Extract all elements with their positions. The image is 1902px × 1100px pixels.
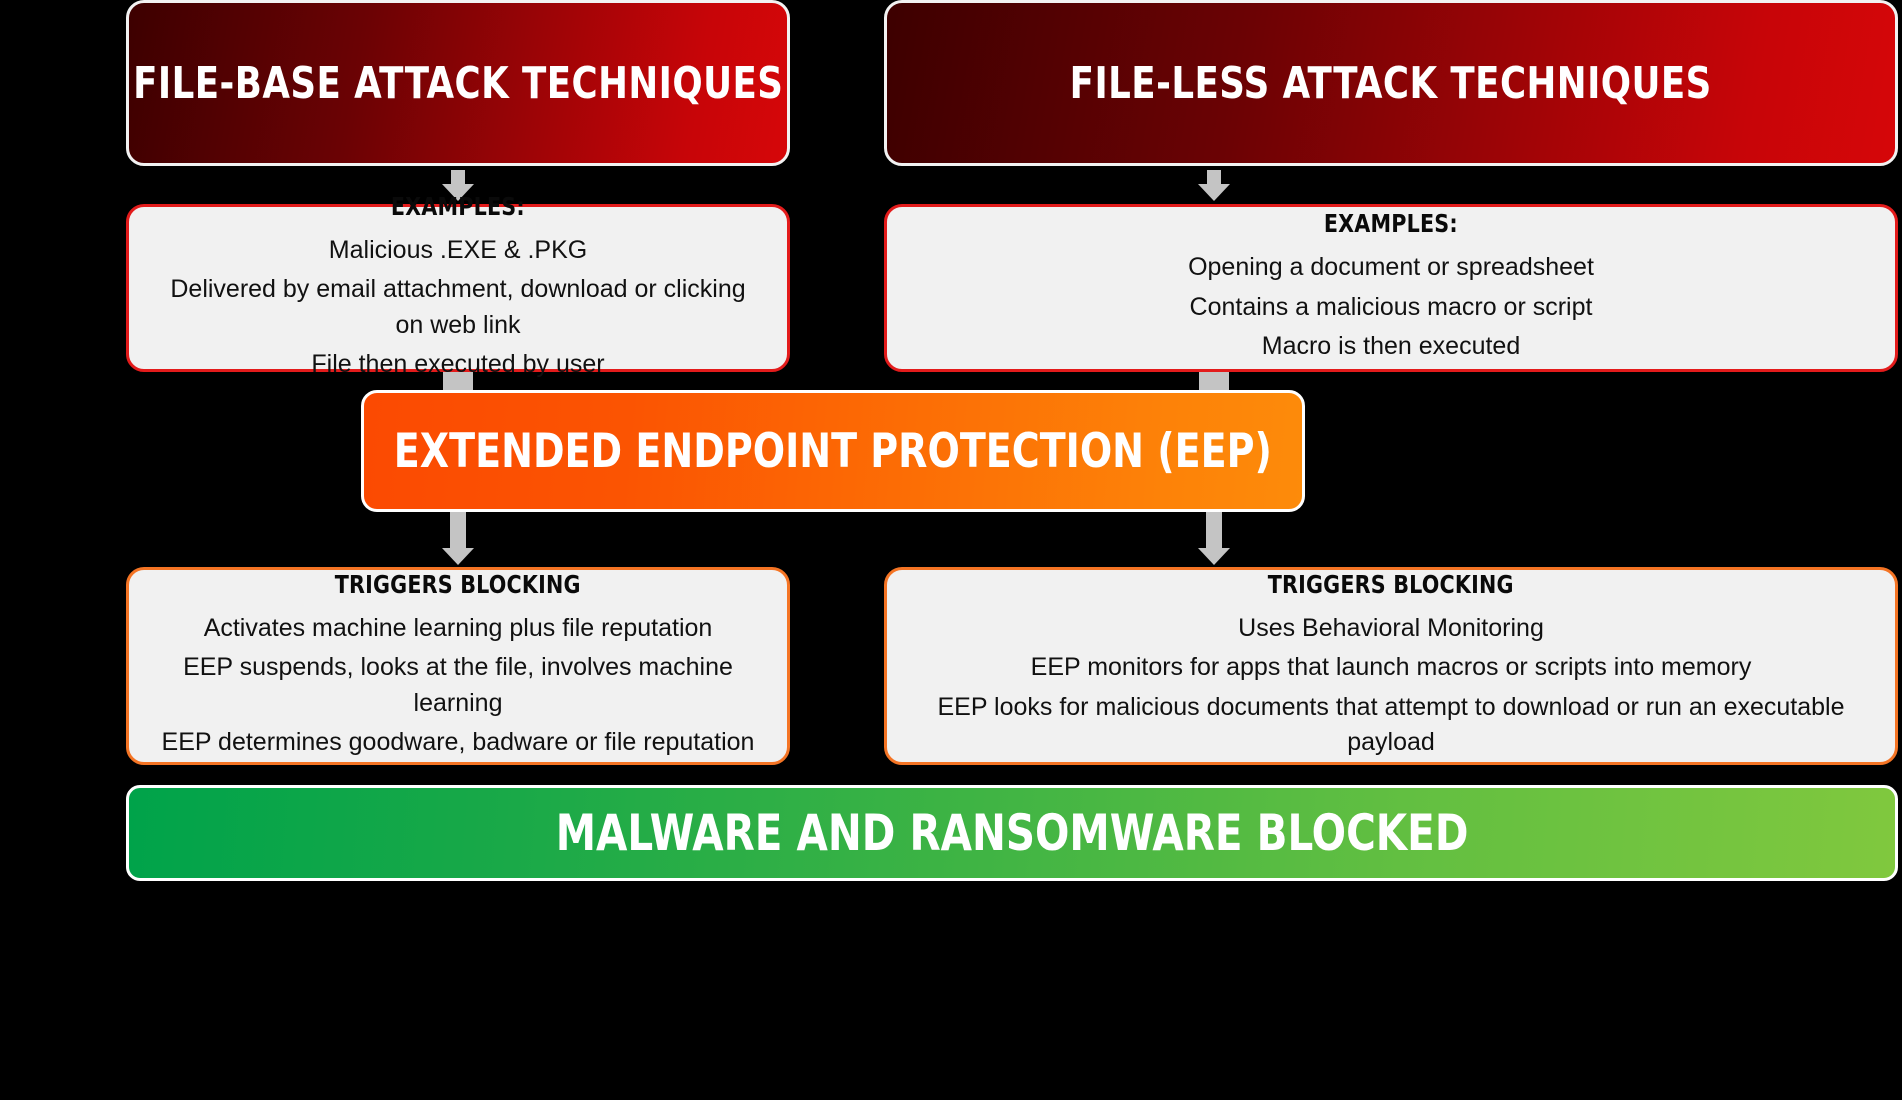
examples-right-line-1: Opening a document or spreadsheet: [1188, 250, 1594, 286]
down-arrow-icon-left-bottom: [442, 512, 474, 565]
triggers-left-line-1: Activates machine learning plus file rep…: [204, 611, 713, 647]
examples-right-line-2: Contains a malicious macro or script: [1190, 290, 1593, 326]
examples-left-line-2: Delivered by email attachment, download …: [161, 272, 755, 343]
examples-left-line-1: Malicious .EXE & .PKG: [329, 233, 587, 269]
triggers-box-left: TRIGGERS BLOCKING Activates machine lear…: [126, 567, 790, 765]
header-file-less-attacks-label: FILE-LESS ATTACK TECHNIQUES: [1070, 58, 1712, 109]
triggers-left-heading: TRIGGERS BLOCKING: [335, 570, 581, 599]
result-banner-label: MALWARE AND RANSOMWARE BLOCKED: [556, 804, 1469, 862]
examples-right-line-3: Macro is then executed: [1262, 329, 1520, 365]
down-arrow-icon-right-top: [1198, 170, 1230, 201]
triggers-right-line-3: EEP looks for malicious documents that a…: [923, 690, 1860, 761]
result-banner: MALWARE AND RANSOMWARE BLOCKED: [126, 785, 1898, 881]
triggers-right-line-1: Uses Behavioral Monitoring: [1238, 611, 1544, 647]
triggers-box-right: TRIGGERS BLOCKING Uses Behavioral Monito…: [884, 567, 1898, 765]
triggers-right-heading: TRIGGERS BLOCKING: [1268, 570, 1514, 599]
triggers-left-line-2: EEP suspends, looks at the file, involve…: [161, 650, 755, 721]
examples-left-heading: EXAMPLES:: [391, 192, 525, 221]
examples-right-heading: EXAMPLES:: [1324, 209, 1458, 238]
triggers-left-line-3: EEP determines goodware, badware or file…: [162, 725, 755, 761]
header-file-less-attacks: FILE-LESS ATTACK TECHNIQUES: [884, 0, 1898, 166]
triggers-right-line-2: EEP monitors for apps that launch macros…: [1031, 650, 1752, 686]
header-file-based-attacks: FILE-BASE ATTACK TECHNIQUES: [126, 0, 790, 166]
eep-banner-label: EXTENDED ENDPOINT PROTECTION (EEP): [394, 424, 1272, 479]
diagram-canvas: FILE-BASE ATTACK TECHNIQUES FILE-LESS AT…: [0, 0, 1902, 1100]
examples-box-left: EXAMPLES: Malicious .EXE & .PKG Delivere…: [126, 204, 790, 372]
down-arrow-icon-right-bottom: [1198, 512, 1230, 565]
examples-box-right: EXAMPLES: Opening a document or spreadsh…: [884, 204, 1898, 372]
eep-banner: EXTENDED ENDPOINT PROTECTION (EEP): [361, 390, 1305, 512]
header-file-based-attacks-label: FILE-BASE ATTACK TECHNIQUES: [133, 58, 783, 109]
